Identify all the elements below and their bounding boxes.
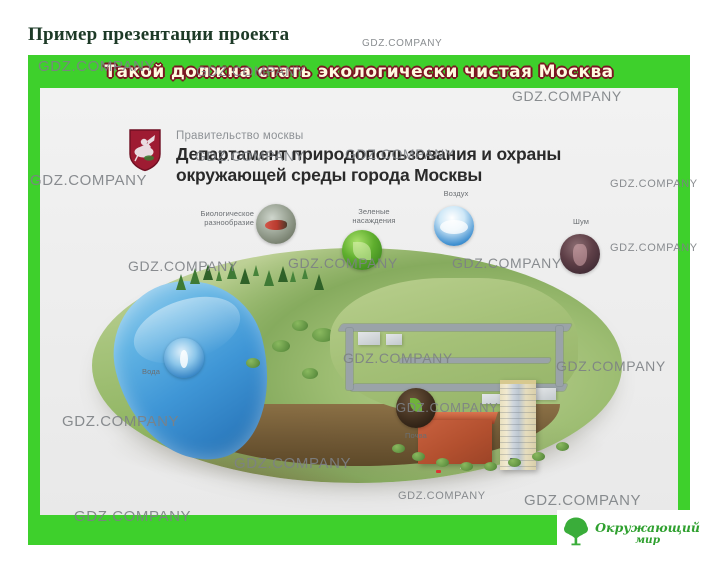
water-photo-icon <box>164 338 204 378</box>
building <box>536 388 556 400</box>
department-text-block: Правительство москвы Департамент природо… <box>176 128 606 185</box>
tree-icon <box>563 516 589 551</box>
brand-name-line2: мир <box>595 535 700 546</box>
tree-icon <box>302 268 308 279</box>
road <box>338 324 572 331</box>
road <box>556 326 563 386</box>
tree-icon <box>227 263 237 279</box>
shrub <box>556 442 569 451</box>
tower-floors <box>500 388 536 470</box>
tree-icon <box>278 266 288 282</box>
shrub <box>412 452 425 461</box>
callout-noise[interactable]: Шум <box>560 234 600 274</box>
shrub <box>392 444 405 453</box>
building <box>386 334 402 345</box>
tree-icon <box>314 274 324 290</box>
shrub <box>292 320 308 331</box>
watermark: GDZ.COMPANY <box>362 38 442 49</box>
presentation-slide: Такой должна стать экологически чистая М… <box>28 55 690 545</box>
road <box>346 328 353 390</box>
road <box>399 358 551 363</box>
leaf-photo-icon <box>342 230 382 270</box>
callout-air[interactable]: Воздух <box>434 206 474 246</box>
high-rise-tower <box>500 380 536 470</box>
callout-soil[interactable]: Почва <box>396 388 436 428</box>
callout-green-spaces[interactable]: Зеленые насаждения <box>342 230 382 270</box>
shrub <box>246 358 260 368</box>
government-label: Правительство москвы <box>176 130 606 142</box>
tree-icon <box>290 271 296 282</box>
shrub <box>484 462 497 471</box>
shrub <box>272 340 290 352</box>
shrub <box>436 458 449 467</box>
cloud-photo-icon <box>434 206 474 246</box>
tree-icon <box>190 268 200 284</box>
brand-logo[interactable]: Окружающий мир <box>557 510 708 557</box>
tree-icon <box>176 274 186 290</box>
callout-label-water: Вода <box>116 368 160 377</box>
moscow-coat-of-arms-icon <box>128 128 162 172</box>
callout-label-biodiversity: Биологическое разнообразие <box>190 210 254 227</box>
department-header: Правительство москвы Департамент природо… <box>128 128 606 185</box>
callout-biodiversity[interactable]: Биологическое разнообразие <box>256 204 296 244</box>
tree-icon <box>216 270 222 281</box>
building <box>358 332 380 345</box>
callout-label-green-spaces: Зеленые насаждения <box>344 208 404 225</box>
shrub <box>532 452 545 461</box>
car <box>436 470 441 473</box>
tree-icon <box>240 268 250 284</box>
slide-banner: Такой должна стать экологически чистая М… <box>28 55 690 88</box>
tree-icon <box>264 270 274 286</box>
tree-icon <box>253 265 259 276</box>
slide-banner-title: Такой должна стать экологически чистая М… <box>104 62 613 82</box>
callout-label-soil: Почва <box>394 432 438 441</box>
shrub <box>508 458 521 467</box>
shrub <box>460 462 473 471</box>
callout-label-noise: Шум <box>563 218 599 227</box>
soil-photo-icon <box>396 388 436 428</box>
bird-photo-icon <box>256 204 296 244</box>
tree-icon <box>203 264 213 280</box>
callout-water[interactable]: Вода <box>164 338 204 378</box>
page-title: Пример презентации проекта <box>28 24 289 46</box>
shrub <box>302 368 318 379</box>
slide-surface: Правительство москвы Департамент природо… <box>40 88 678 515</box>
callout-label-air: Воздух <box>436 190 476 199</box>
department-title: Департамент природопользования и охраны … <box>176 144 606 185</box>
brand-name: Окружающий мир <box>595 521 700 545</box>
noise-photo-icon <box>560 234 600 274</box>
